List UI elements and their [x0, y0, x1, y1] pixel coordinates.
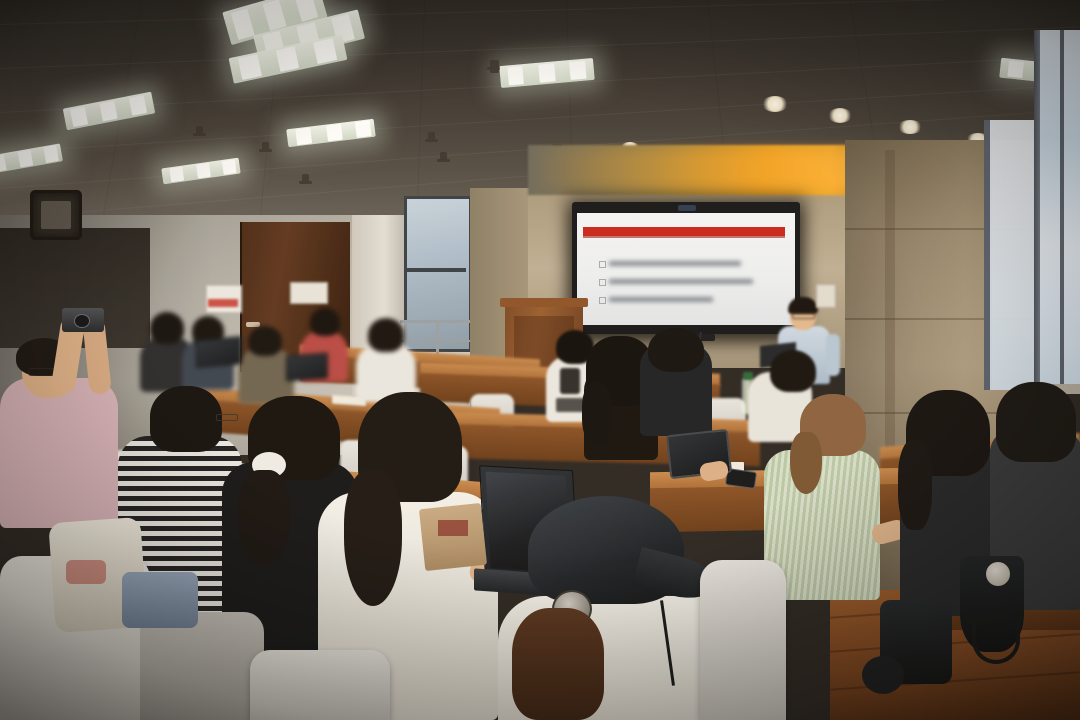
tote-bag-label: [438, 520, 468, 536]
slide-header-bar: [583, 227, 785, 236]
audience-hair: [996, 382, 1076, 462]
glasses-icon: [216, 414, 238, 421]
audience-hair: [150, 386, 222, 452]
audience-torso: [0, 378, 118, 528]
slide-bullet-marker: [599, 279, 606, 286]
audience-hair: [310, 308, 340, 336]
laptop[interactable]: [196, 336, 242, 368]
camera-lens-icon: [74, 314, 90, 328]
slide-bullet-marker: [599, 261, 606, 268]
slide-bullet-text: —————————————: [609, 279, 753, 284]
audience-ponytail: [790, 432, 822, 494]
chair[interactable]: [250, 650, 390, 720]
recessed-downlight: [828, 108, 852, 123]
jacket-pattern: [66, 560, 106, 584]
slide-bullet-marker: [599, 297, 606, 304]
presentation-slide: ———————————— ————————————— —————————: [577, 213, 795, 325]
slide-bullet-text: ————————————: [609, 261, 741, 266]
door-sign: [290, 282, 328, 304]
wall-clock: [30, 190, 82, 240]
display-camera-icon: [678, 205, 696, 211]
recessed-downlight: [898, 120, 922, 134]
chair[interactable]: [700, 560, 786, 720]
bag-charm: [986, 562, 1010, 586]
speaker-mount-icon: [490, 60, 499, 73]
shirt-letter-print: [560, 368, 580, 394]
tote-bag: [419, 503, 487, 571]
sprinkler-head: [428, 132, 435, 141]
right-window-mullion: [1060, 30, 1064, 390]
slide-header-bar-shadow: [583, 236, 785, 238]
bag-strap: [972, 608, 1020, 664]
sprinkler-head: [440, 152, 447, 161]
chair[interactable]: [140, 612, 264, 720]
slide-bullet-text: —————————: [609, 297, 713, 302]
wall-notice-red-band: [208, 299, 238, 307]
audience-hair: [368, 318, 404, 352]
sprinkler-head: [302, 174, 309, 183]
lecture-hall-photo: ———————————— ————————————— —————————: [0, 0, 1080, 720]
audience-ponytail: [512, 608, 604, 720]
right-window-inner: [990, 120, 1036, 390]
audience-ponytail: [344, 470, 402, 606]
handbag: [122, 572, 198, 628]
audience-hair-fall: [582, 382, 612, 444]
recessed-downlight: [762, 96, 788, 112]
bottle-cap: [743, 372, 753, 380]
orange-accent-glow: [528, 150, 858, 190]
audience-hair: [648, 328, 704, 372]
audience-hair: [248, 326, 282, 356]
audience-ponytail: [238, 470, 290, 566]
chair-wheel: [862, 656, 904, 694]
lectern-top: [500, 298, 588, 307]
laptop[interactable]: [286, 353, 328, 382]
glasses-icon: [792, 312, 815, 319]
audience-hair: [770, 350, 816, 392]
speaker-arm: [826, 334, 840, 376]
sprinkler-head: [196, 126, 203, 135]
wall-socket-plate: [816, 284, 836, 308]
back-window-mullion: [404, 268, 466, 272]
audience-hair-fall: [898, 440, 932, 530]
sprinkler-head: [262, 142, 269, 151]
audience-hair: [150, 312, 184, 344]
